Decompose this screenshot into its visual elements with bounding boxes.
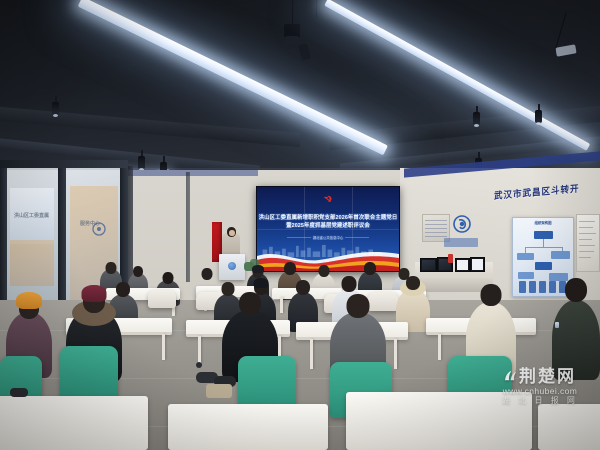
table — [168, 404, 328, 450]
ceiling-cable — [316, 0, 317, 18]
ceiling-cable — [292, 0, 293, 26]
ceiling-speaker — [298, 43, 311, 61]
chair — [238, 356, 296, 410]
track-spotlight — [535, 110, 542, 123]
counter-monitor — [420, 258, 437, 272]
chair — [148, 290, 176, 308]
counter-sign-text — [444, 238, 478, 247]
table — [538, 404, 600, 450]
photo-scene: 武汉市武昌区斗转开 洪山区工委直属新增职积党支部2026年首次联合主题党日 暨2… — [0, 0, 600, 450]
maroon-beanie — [82, 285, 107, 302]
projection-screen: 洪山区工委直属新增职积党支部2026年首次联合主题党日 暨2025年度抓基层党建… — [256, 186, 400, 272]
poster-title: 组织架构图 — [513, 220, 573, 225]
organization-emblem-icon — [452, 215, 472, 237]
table-caster — [196, 362, 202, 368]
chair — [60, 346, 118, 402]
screen-headline-line2: 暨2025年度抓基层党建述职评议会 — [257, 221, 399, 229]
podium-logo-icon — [228, 262, 236, 270]
party-emblem-icon — [322, 194, 335, 205]
shoe — [10, 388, 28, 397]
counter-red-marker — [448, 254, 453, 263]
notice-poster — [576, 214, 600, 272]
table — [0, 396, 148, 450]
screen-headline-line1: 洪山区工委直属新增职积党支部2026年首次联合主题党日 — [257, 213, 399, 221]
ceiling-projector — [286, 36, 298, 44]
partition-post — [186, 172, 190, 282]
orange-hat — [16, 292, 42, 309]
counter-monitor — [470, 257, 485, 272]
track-spotlight — [138, 156, 145, 169]
speaker-face — [229, 230, 235, 236]
reflected-text: 洪山区工委直属 — [14, 212, 49, 219]
track-spotlight — [473, 112, 480, 125]
track-spotlight — [52, 102, 59, 115]
reflected-emblem-icon — [92, 222, 106, 238]
podium — [219, 254, 245, 280]
ceiling-duct — [555, 44, 576, 56]
attendee — [552, 278, 600, 380]
screen-subtitle: 湖北省公共信息中心 — [257, 235, 399, 240]
smartphone[interactable] — [555, 322, 559, 328]
wall-accent-strip — [128, 170, 258, 176]
counter-monitor — [455, 258, 470, 272]
glass-reflection — [10, 240, 54, 286]
handbag — [206, 384, 232, 398]
table — [346, 392, 532, 450]
